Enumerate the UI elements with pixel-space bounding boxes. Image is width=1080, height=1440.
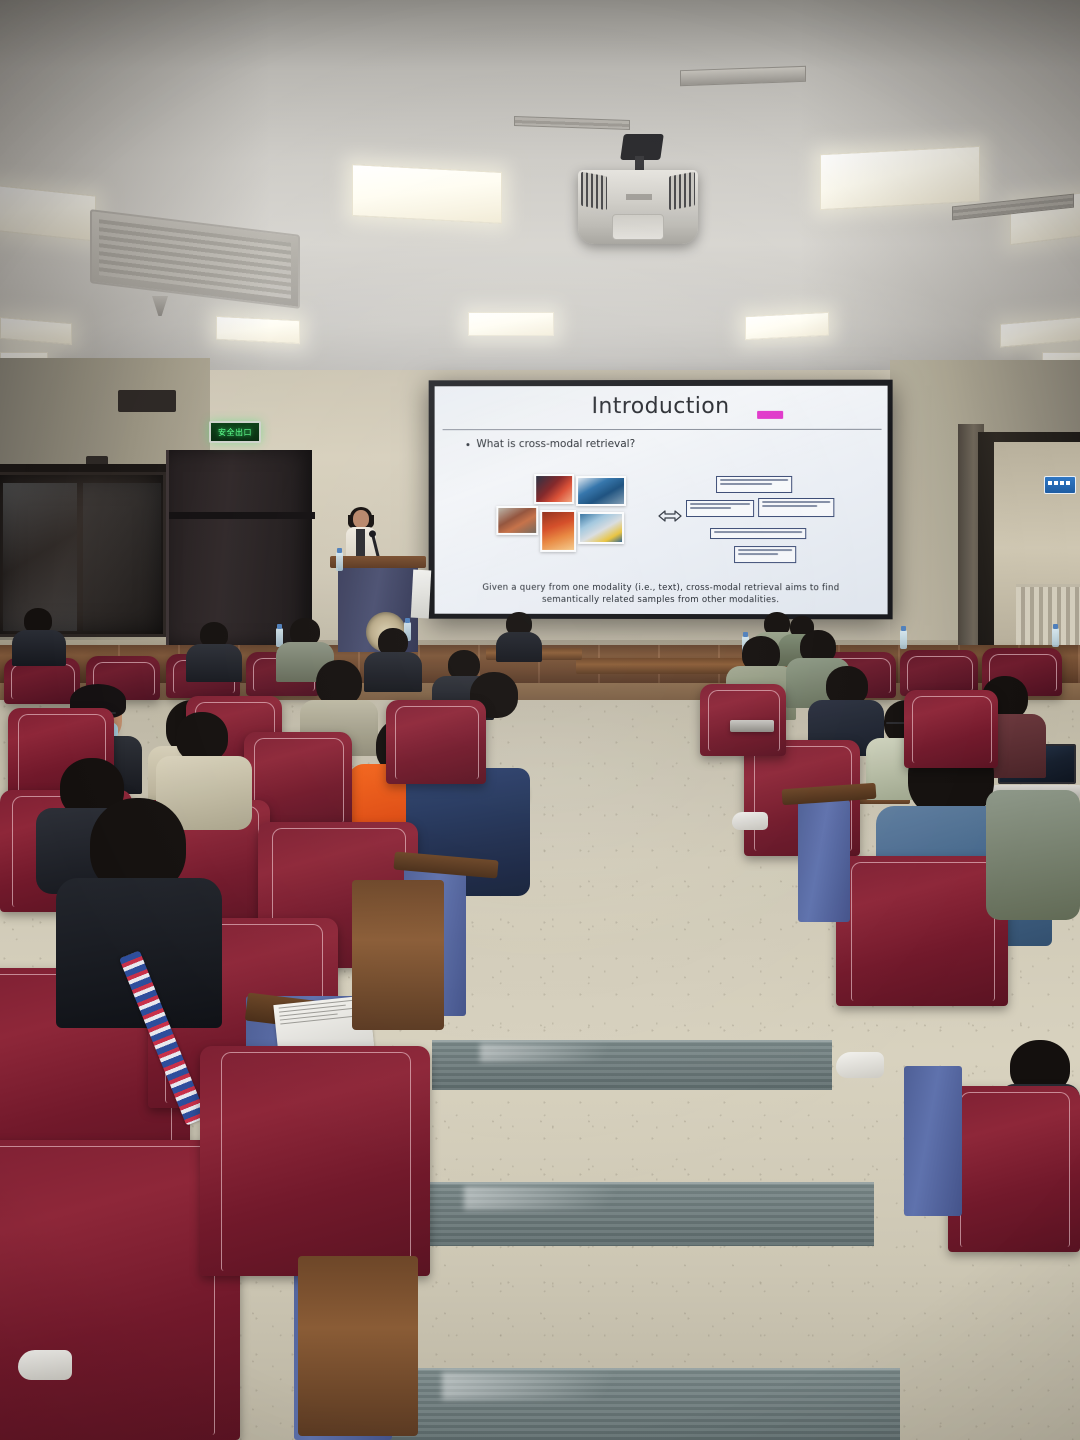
radiator bbox=[1016, 584, 1080, 646]
projection-screen: Introduction What is cross-modal retriev… bbox=[429, 380, 893, 620]
lecture-hall-photo: 安全出口 Introduction What is cross-modal re… bbox=[0, 0, 1080, 1440]
presentation-slide: Introduction What is cross-modal retriev… bbox=[435, 386, 888, 615]
cabinet-glass-panel bbox=[83, 483, 161, 631]
slide-text-box bbox=[734, 546, 796, 563]
collage-photo bbox=[578, 512, 624, 544]
auditorium-seat[interactable] bbox=[386, 700, 486, 784]
collage-photo bbox=[534, 474, 574, 504]
step-highlight bbox=[480, 1043, 648, 1062]
slide-text-box bbox=[716, 476, 792, 493]
aisle-step bbox=[432, 1040, 832, 1090]
podium-top bbox=[330, 556, 426, 568]
person-torso bbox=[186, 644, 242, 682]
ceiling-shading bbox=[0, 0, 1080, 382]
wall-notice-sign bbox=[1044, 476, 1076, 494]
collage-photo bbox=[576, 476, 626, 506]
bullet-dot-icon bbox=[466, 443, 469, 446]
collage-photo bbox=[540, 510, 576, 552]
shoe bbox=[732, 812, 768, 830]
person-head bbox=[176, 712, 228, 762]
slide-title-divider bbox=[443, 429, 882, 430]
water-bottle bbox=[900, 630, 907, 649]
auditorium-seat[interactable] bbox=[948, 1086, 1080, 1252]
seat-side-panel bbox=[798, 800, 850, 922]
folding-desk bbox=[352, 880, 444, 1030]
water-bottle bbox=[1052, 628, 1059, 647]
door-rail bbox=[169, 512, 315, 519]
step-highlight bbox=[464, 1186, 660, 1210]
step-highlight bbox=[442, 1372, 660, 1399]
wall-speaker-box bbox=[118, 390, 176, 412]
presenter-head bbox=[353, 510, 369, 528]
person-torso bbox=[496, 632, 542, 662]
folding-desk bbox=[298, 1256, 418, 1436]
slide-text-box bbox=[758, 498, 834, 517]
right-doorway[interactable] bbox=[978, 432, 1080, 654]
auditorium-seat[interactable] bbox=[200, 1046, 430, 1276]
slide-text-box bbox=[686, 500, 754, 517]
auditorium-seat[interactable] bbox=[836, 856, 1008, 1006]
audience-member bbox=[186, 622, 242, 680]
podium-papers bbox=[411, 570, 431, 619]
slide-caption: Given a query from one modality (i.e., t… bbox=[453, 582, 870, 606]
slide-text-box bbox=[710, 528, 806, 539]
seat-side-panel bbox=[904, 1066, 962, 1216]
folding-desk bbox=[730, 720, 774, 732]
doorway-interior bbox=[994, 442, 1080, 654]
audience-member bbox=[496, 612, 542, 660]
audience-member-foreground bbox=[56, 798, 222, 1018]
slide-image-collage bbox=[496, 474, 628, 558]
left-door[interactable] bbox=[166, 450, 312, 645]
slide-accent-bar bbox=[757, 411, 783, 419]
bidirectional-arrow-icon bbox=[658, 506, 682, 526]
audience-member bbox=[12, 608, 66, 664]
aisle-step bbox=[380, 1368, 900, 1440]
slide-bullet-row: What is cross-modal retrieval? bbox=[466, 438, 635, 450]
audience-member bbox=[986, 790, 1080, 920]
emergency-exit-sign: 安全出口 bbox=[209, 421, 261, 443]
person-torso bbox=[12, 630, 66, 666]
auditorium-seat[interactable] bbox=[904, 690, 998, 768]
shoe bbox=[18, 1350, 72, 1380]
person-torso bbox=[986, 790, 1080, 920]
water-bottle bbox=[336, 552, 343, 571]
aisle-step bbox=[408, 1182, 874, 1246]
collage-photo bbox=[496, 506, 538, 535]
exit-sign-label: 安全出口 bbox=[218, 427, 252, 438]
slide-title: Introduction bbox=[435, 394, 888, 419]
shoe bbox=[836, 1052, 884, 1078]
slide-bullet-text: What is cross-modal retrieval? bbox=[476, 438, 635, 450]
